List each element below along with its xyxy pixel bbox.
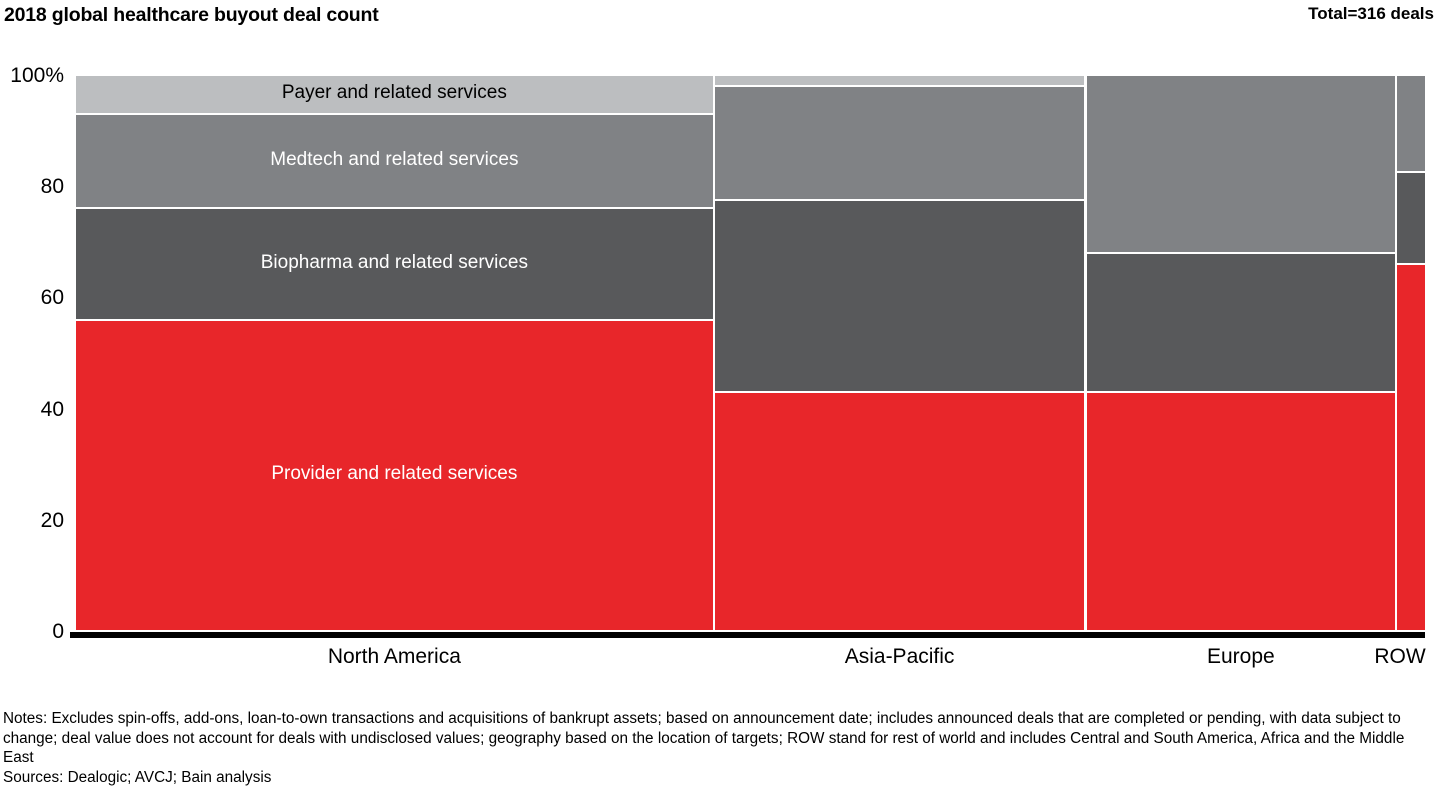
bar-segment-medtech[interactable] [1397,76,1425,171]
bar-segment-medtech[interactable] [715,87,1085,199]
bar-segment-provider[interactable]: Provider and related services [76,321,713,630]
marimekko-column: Payer and related servicesMedtech and re… [76,76,713,632]
bar-segment-provider[interactable] [1397,265,1425,630]
bar-segment-label: Payer and related services [76,83,713,104]
bar-segment-label: Medtech and related services [76,150,713,171]
bar-segment-biopharma[interactable] [1397,173,1425,263]
y-axis-tick: 100% [10,65,64,86]
footnote-sources: Sources: Dealogic; AVCJ; Bain analysis [3,768,1435,788]
y-axis-tick: 0 [52,621,64,642]
x-axis-tick: North America [328,646,461,667]
bar-segment-label: Biopharma and related services [76,253,713,274]
marimekko-columns: Payer and related servicesMedtech and re… [76,76,1425,632]
bar-segment-biopharma[interactable] [715,201,1085,391]
chart-plot-area: 100%806040200 Payer and related services… [0,0,1440,700]
bar-segment-biopharma[interactable] [1087,254,1395,391]
marimekko-column [715,76,1085,632]
x-axis-tick: Asia-Pacific [845,646,955,667]
bar-segment-payer[interactable] [715,76,1085,85]
marimekko-column [1087,76,1395,632]
x-axis: North AmericaAsia-PacificEuropeROW [0,646,1440,686]
bar-segment-provider[interactable] [715,393,1085,630]
bar-segment-biopharma[interactable]: Biopharma and related services [76,209,713,318]
bar-segment-payer[interactable]: Payer and related services [76,76,713,113]
footnotes: Notes: Excludes spin-offs, add-ons, loan… [3,709,1435,787]
bar-segment-medtech[interactable] [1087,76,1395,252]
x-axis-tick: ROW [1374,646,1425,667]
x-axis-baseline [70,632,1425,638]
bar-segment-provider[interactable] [1087,393,1395,630]
y-axis-tick: 60 [41,287,64,308]
y-axis-tick: 80 [41,176,64,197]
footnote-notes: Notes: Excludes spin-offs, add-ons, loan… [3,709,1435,768]
bar-segment-medtech[interactable]: Medtech and related services [76,115,713,208]
y-axis-tick: 20 [41,510,64,531]
x-axis-tick: Europe [1207,646,1275,667]
marimekko-column [1397,76,1425,632]
y-axis-tick: 40 [41,399,64,420]
bar-segment-label: Provider and related services [76,464,713,485]
y-axis: 100%806040200 [0,0,76,700]
